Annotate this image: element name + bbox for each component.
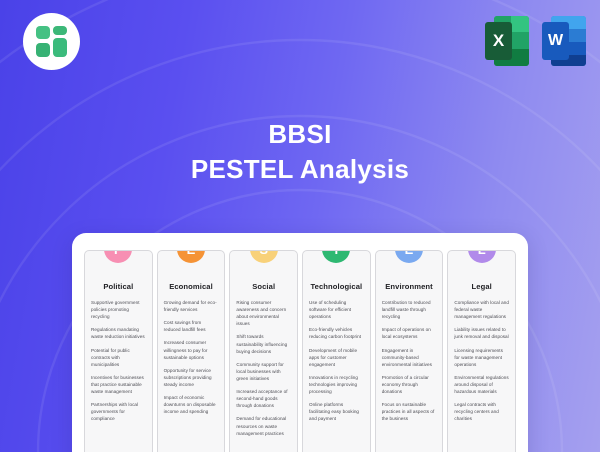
app-logo-grid-icon [36,26,67,57]
title-subject: PESTEL Analysis [0,151,600,189]
pestel-column-title: Technological [308,282,365,291]
pestel-item-list: Supportive government policies promoting… [90,299,147,423]
pestel-item: Shift towards sustainability influencing… [236,333,291,354]
pestel-column-technological[interactable]: TTechnologicalUse of scheduling software… [302,250,371,452]
pestel-column-title: Economical [163,282,220,291]
excel-icon[interactable]: X [485,16,529,66]
pestel-item: Online platforms facilitating easy booki… [309,401,364,422]
pestel-item: Eco-friendly vehicles reducing carbon fo… [309,326,364,340]
pestel-column-legal[interactable]: LLegalCompliance with local and federal … [447,250,516,452]
pestel-item: Opportunity for service subscriptions pr… [164,367,219,388]
pestel-item-list: Rising consumer awareness and concern ab… [235,299,292,437]
logo-tile-1 [36,26,50,39]
pestel-item: Innovations in recycling technologies im… [309,374,364,395]
pestel-column-title: Political [90,282,147,291]
pestel-item: Community support for local businesses w… [236,361,291,382]
pestel-item-list: Contribution to reduced landfill waste t… [381,299,438,423]
pestel-item: Development of mobile apps for customer … [309,347,364,368]
pestel-item: Supportive government policies promoting… [91,299,146,320]
pestel-item: Use of scheduling software for efficient… [309,299,364,320]
pestel-column-political[interactable]: PPoliticalSupportive government policies… [84,250,153,452]
pestel-letter-badge: L [468,250,496,263]
pestel-item: Liability issues related to junk removal… [454,326,509,340]
pestel-item: Potential for public contracts with muni… [91,347,146,368]
pestel-column-social[interactable]: SSocialRising consumer awareness and con… [229,250,298,452]
pestel-column-economical[interactable]: EEconomicalGrowing demand for eco-friend… [157,250,226,452]
pestel-letter-badge: E [177,250,205,263]
pestel-item: Regulations mandating waste reduction in… [91,326,146,340]
pestel-item: Compliance with local and federal waste … [454,299,509,320]
pestel-column-title: Environment [381,282,438,291]
excel-icon-letter: X [485,22,512,60]
title-company: BBSI [0,118,600,151]
pestel-item: Impact of economic downturns on disposab… [164,394,219,415]
pestel-letter-badge: P [104,250,132,263]
pestel-item: Engagement in community-based environmen… [382,347,437,368]
pestel-item: Growing demand for eco-friendly services [164,299,219,313]
pestel-panel: PPoliticalSupportive government policies… [72,233,528,452]
pestel-item: Licensing requirements for waste managem… [454,347,509,368]
pestel-item: Demand for educational resources on wast… [236,415,291,436]
pestel-item: Focus on sustainable practices in all as… [382,401,437,422]
pestel-item: Increased acceptance of second-hand good… [236,388,291,409]
pestel-item: Incentives for businesses that practice … [91,374,146,395]
logo-tile-3 [36,43,50,57]
pestel-item: Contribution to reduced landfill waste t… [382,299,437,320]
pestel-item: Promotion of a circular economy through … [382,374,437,395]
pestel-column-environment[interactable]: EEnvironmentContribution to reduced land… [375,250,444,452]
pestel-column-title: Legal [453,282,510,291]
pestel-item: Impact of operations on local ecosystems [382,326,437,340]
pestel-columns: PPoliticalSupportive government policies… [84,250,516,452]
pestel-item: Rising consumer awareness and concern ab… [236,299,291,327]
logo-tile-4 [53,38,67,57]
pestel-column-title: Social [235,282,292,291]
pestel-item: Environmental regulations around disposa… [454,374,509,395]
pestel-item: Cost savings from reduced landfill fees [164,319,219,333]
pestel-item-list: Use of scheduling software for efficient… [308,299,365,423]
pestel-item: Increased consumer willingness to pay fo… [164,339,219,360]
slide-canvas: X W BBSI PESTEL Analysis PPoliticalSuppo… [0,0,600,452]
pestel-letter-badge: S [250,250,278,263]
app-logo [23,13,80,70]
pestel-letter-badge: T [322,250,350,263]
export-format-icons: X W [485,16,586,66]
pestel-item-list: Growing demand for eco-friendly services… [163,299,220,415]
word-icon-letter: W [542,22,569,60]
logo-tile-2 [53,26,67,35]
pestel-letter-badge: E [395,250,423,263]
pestel-item: Partnerships with local governments for … [91,401,146,422]
word-icon[interactable]: W [542,16,586,66]
page-title: BBSI PESTEL Analysis [0,118,600,188]
pestel-item: Legal contracts with recycling centers a… [454,401,509,422]
pestel-item-list: Compliance with local and federal waste … [453,299,510,423]
